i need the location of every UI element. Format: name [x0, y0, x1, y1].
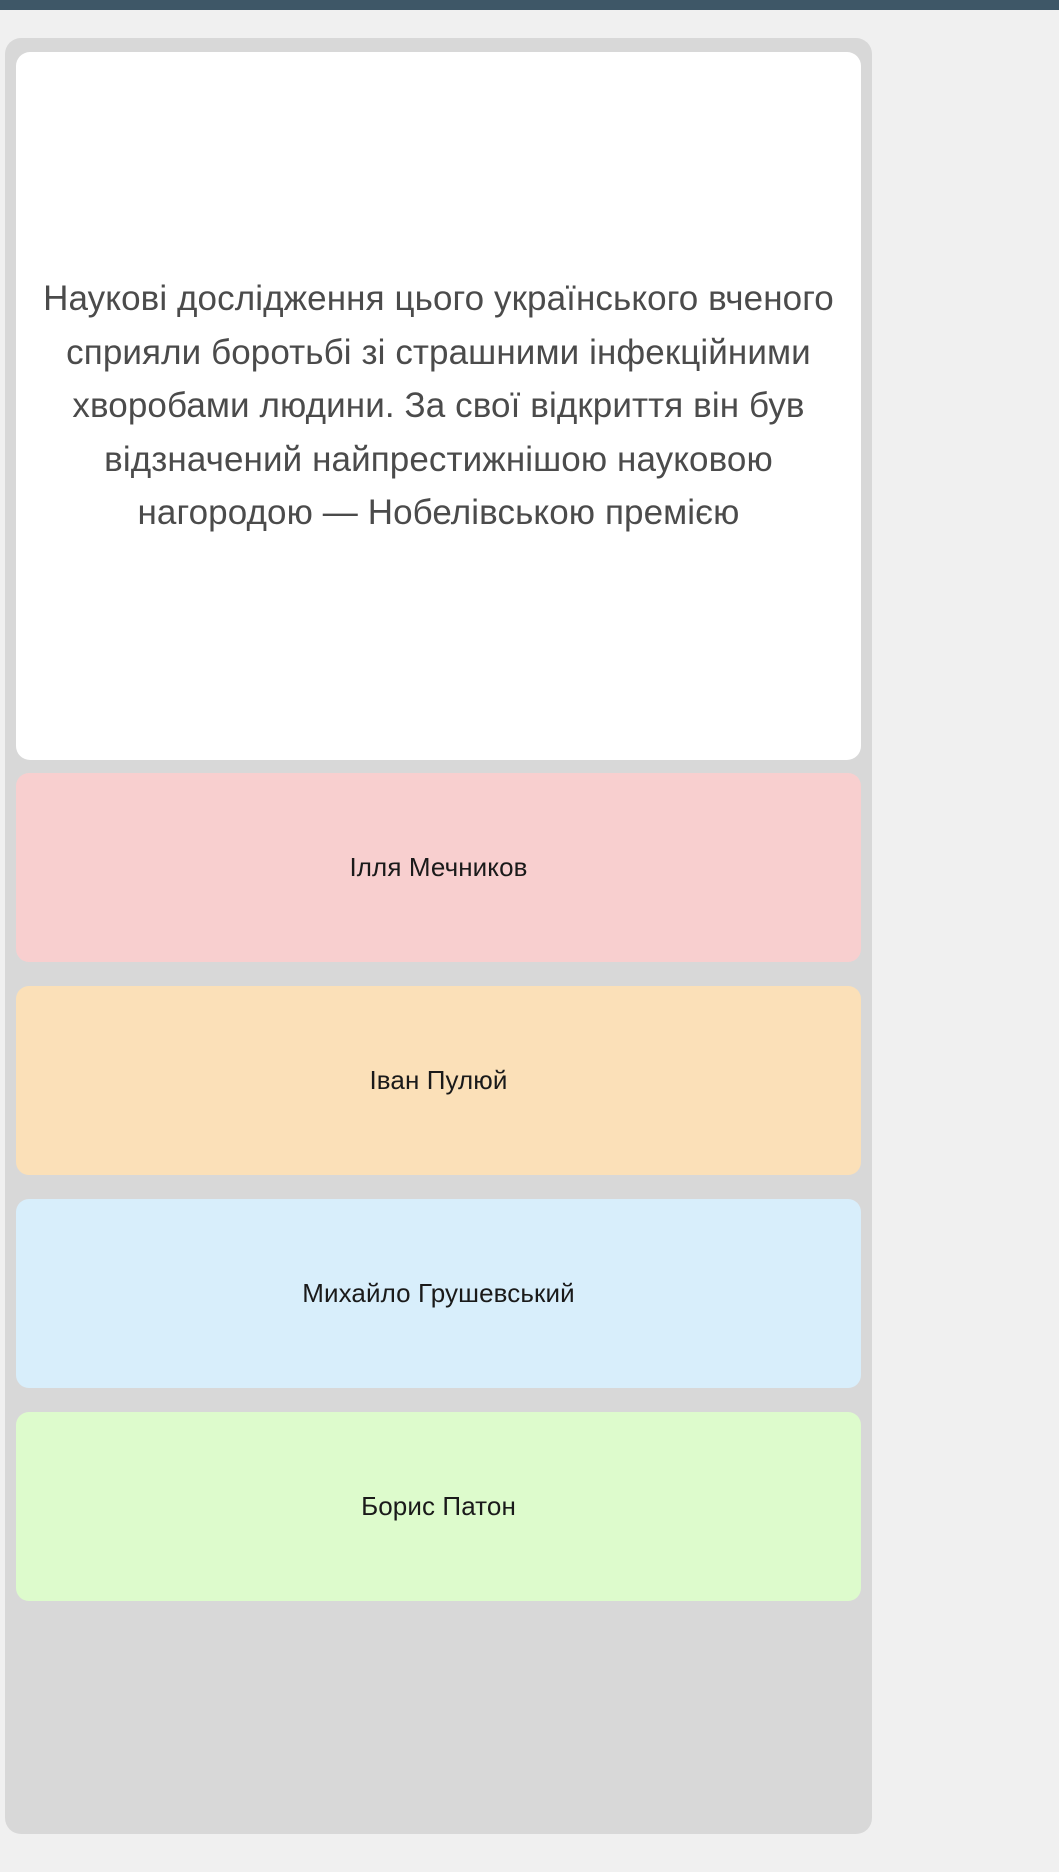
answer-option-4-label: Борис Патон: [361, 1491, 516, 1522]
answer-option-4[interactable]: Борис Патон: [16, 1412, 861, 1601]
quiz-panel: Наукові дослідження цього українського в…: [5, 38, 872, 1834]
browser-top-bar: [0, 0, 1059, 10]
answer-option-3-label: Михайло Грушевський: [302, 1278, 575, 1309]
answer-option-2-label: Іван Пулюй: [369, 1065, 507, 1096]
answer-options-list: Ілля Мечников Іван Пулюй Михайло Грушевс…: [16, 773, 861, 1601]
answer-option-2[interactable]: Іван Пулюй: [16, 986, 861, 1175]
page-viewport: Наукові дослідження цього українського в…: [0, 10, 878, 1872]
answer-option-1-label: Ілля Мечников: [349, 852, 527, 883]
question-text: Наукові дослідження цього українського в…: [30, 272, 847, 540]
answer-option-1[interactable]: Ілля Мечников: [16, 773, 861, 962]
question-card: Наукові дослідження цього українського в…: [16, 52, 861, 760]
answer-option-3[interactable]: Михайло Грушевський: [16, 1199, 861, 1388]
